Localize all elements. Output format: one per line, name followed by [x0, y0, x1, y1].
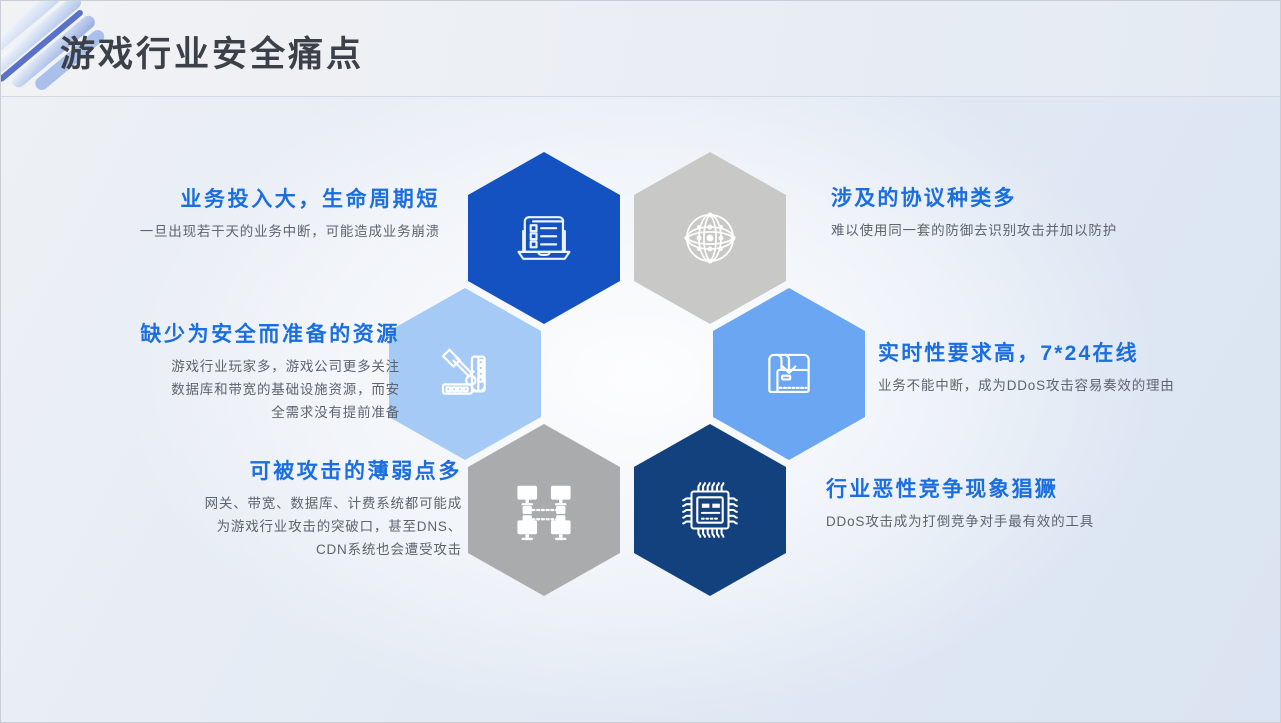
point-heading: 可被攻击的薄弱点多: [0, 455, 462, 485]
cpu-chip-icon: [673, 473, 747, 547]
page-title: 游戏行业安全痛点: [60, 26, 364, 77]
point-protocol-variety: 涉及的协议种类多 难以使用同一套的防御去识别攻击并加以防护: [831, 182, 1271, 242]
point-body: 网关、带宽、数据库、计费系统都可能成 为游戏行业攻击的突破口，甚至DNS、 CD…: [0, 492, 462, 562]
point-body-line: 为游戏行业攻击的突破口，甚至DNS、: [0, 515, 462, 538]
point-security-resources: 缺少为安全而准备的资源 游戏行业玩家多，游戏公司更多关注 数据库和带宽的基础设施…: [0, 318, 400, 425]
point-body: DDoS攻击成为打倒竞争对手最有效的工具: [826, 510, 1266, 533]
point-body-line: 一旦出现若干天的业务中断，可能造成业务崩溃: [0, 220, 440, 243]
point-body-line: 难以使用同一套的防御去识别攻击并加以防护: [831, 219, 1271, 242]
point-body: 难以使用同一套的防御去识别攻击并加以防护: [831, 219, 1271, 242]
point-heading: 实时性要求高，7*24在线: [878, 337, 1278, 367]
hex-realtime-demand[interactable]: [713, 288, 865, 460]
point-body: 游戏行业玩家多，游戏公司更多关注 数据库和带宽的基础设施资源，而安 全需求没有提…: [0, 355, 400, 425]
point-heading: 业务投入大，生命周期短: [0, 183, 440, 213]
eyedropper-palette-icon: [428, 337, 502, 411]
globe-network-icon: [673, 201, 747, 275]
point-heading: 行业恶性竞争现象猖獗: [826, 473, 1266, 503]
network-monitors-icon: [507, 473, 581, 547]
point-body-line: CDN系统也会遭受攻击: [0, 538, 462, 561]
hex-protocol-variety[interactable]: [634, 152, 786, 324]
point-body: 一旦出现若干天的业务中断，可能造成业务崩溃: [0, 220, 440, 243]
point-heading: 涉及的协议种类多: [831, 182, 1271, 212]
laptop-checklist-icon: [507, 201, 581, 275]
point-body-line: DDoS攻击成为打倒竞争对手最有效的工具: [826, 510, 1266, 533]
hex-security-resources[interactable]: [389, 288, 541, 460]
point-body-line: 业务不能中断，成为DDoS攻击容易奏效的理由: [878, 374, 1278, 397]
point-malicious-competition: 行业恶性竞争现象猖獗 DDoS攻击成为打倒竞争对手最有效的工具: [826, 473, 1266, 533]
point-weak-points: 可被攻击的薄弱点多 网关、带宽、数据库、计费系统都可能成 为游戏行业攻击的突破口…: [0, 455, 462, 562]
point-business-investment: 业务投入大，生命周期短 一旦出现若干天的业务中断，可能造成业务崩溃: [0, 183, 440, 243]
point-realtime-demand: 实时性要求高，7*24在线 业务不能中断，成为DDoS攻击容易奏效的理由: [878, 337, 1278, 397]
point-body-line: 游戏行业玩家多，游戏公司更多关注: [0, 355, 400, 378]
hex-business-investment[interactable]: [468, 152, 620, 324]
download-archive-icon: [752, 337, 826, 411]
hex-malicious-competition[interactable]: [634, 424, 786, 596]
point-body: 业务不能中断，成为DDoS攻击容易奏效的理由: [878, 374, 1278, 397]
point-body-line: 网关、带宽、数据库、计费系统都可能成: [0, 492, 462, 515]
point-body-line: 数据库和带宽的基础设施资源，而安: [0, 378, 400, 401]
point-heading: 缺少为安全而准备的资源: [0, 318, 400, 348]
slide-canvas: 游戏行业安全痛点: [0, 0, 1281, 723]
hex-weak-points[interactable]: [468, 424, 620, 596]
point-body-line: 全需求没有提前准备: [0, 401, 400, 424]
